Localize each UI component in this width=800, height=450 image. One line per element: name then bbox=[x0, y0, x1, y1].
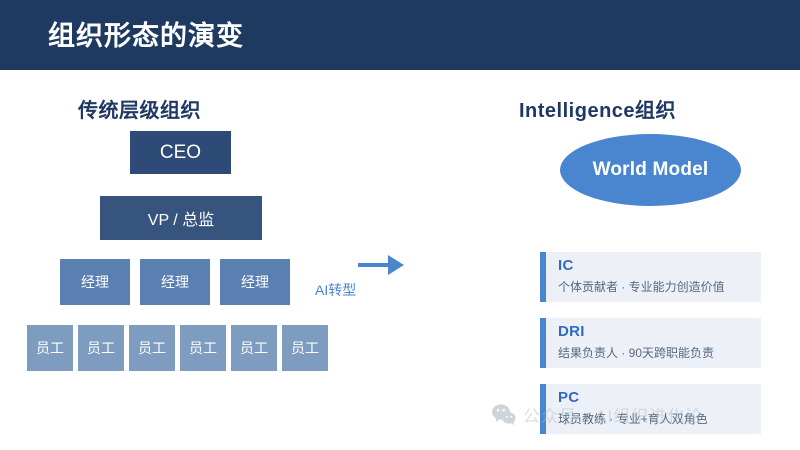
org-box-vp-label: VP / 总监 bbox=[148, 206, 214, 230]
world-model-node: World Model bbox=[560, 134, 741, 206]
org-box-manager-label: 经理 bbox=[241, 272, 269, 292]
org-box-vp: VP / 总监 bbox=[100, 196, 262, 240]
org-box-ceo: CEO bbox=[130, 131, 231, 174]
org-box-employee-label: 员工 bbox=[189, 338, 217, 358]
role-card-title: PC bbox=[558, 389, 579, 406]
org-box-employee-label: 员工 bbox=[87, 338, 115, 358]
org-box-manager-label: 经理 bbox=[161, 272, 189, 292]
slide-canvas: 组织形态的演变 传统层级组织 CEO VP / 总监 经理 经理 经理 员工 员… bbox=[0, 0, 800, 450]
role-card-ic: IC 个体贡献者 · 专业能力创造价值 bbox=[540, 252, 761, 302]
org-box-employee-label: 员工 bbox=[240, 338, 268, 358]
org-box-employee: 员工 bbox=[282, 325, 328, 371]
role-card-description: 个体贡献者 · 专业能力创造价值 bbox=[558, 278, 725, 295]
role-card-description: 结果负责人 · 90天跨职能负责 bbox=[558, 344, 714, 361]
role-card-accent-bar bbox=[540, 318, 546, 368]
org-box-manager: 经理 bbox=[60, 259, 130, 305]
arrow-right-icon bbox=[358, 252, 405, 278]
role-card-dri: DRI 结果负责人 · 90天跨职能负责 bbox=[540, 318, 761, 368]
role-card-pc: PC 球员教练 · 专业+育人双角色 bbox=[540, 384, 761, 434]
ai-transition-label: AI转型 bbox=[315, 280, 356, 300]
org-box-employee-label: 员工 bbox=[138, 338, 166, 358]
org-box-manager: 经理 bbox=[140, 259, 210, 305]
org-box-manager: 经理 bbox=[220, 259, 290, 305]
org-box-employee: 员工 bbox=[129, 325, 175, 371]
org-box-employee-label: 员工 bbox=[36, 338, 64, 358]
org-box-employee: 员工 bbox=[180, 325, 226, 371]
role-card-description: 球员教练 · 专业+育人双角色 bbox=[558, 410, 708, 427]
org-box-ceo-label: CEO bbox=[160, 142, 201, 164]
org-box-manager-label: 经理 bbox=[81, 272, 109, 292]
page-title: 组织形态的演变 bbox=[48, 18, 244, 54]
org-box-employee: 员工 bbox=[78, 325, 124, 371]
right-column-heading: Intelligence组织 bbox=[519, 94, 676, 123]
org-box-employee-label: 员工 bbox=[291, 338, 319, 358]
role-card-accent-bar bbox=[540, 384, 546, 434]
role-card-title: DRI bbox=[558, 323, 585, 340]
left-column-heading: 传统层级组织 bbox=[78, 94, 201, 123]
org-box-employee: 员工 bbox=[231, 325, 277, 371]
role-card-title: IC bbox=[558, 257, 574, 274]
world-model-label: World Model bbox=[593, 159, 709, 181]
role-card-accent-bar bbox=[540, 252, 546, 302]
wechat-icon bbox=[492, 404, 516, 425]
ai-transition-group: AI转型 bbox=[315, 252, 405, 308]
org-box-employee: 员工 bbox=[27, 325, 73, 371]
